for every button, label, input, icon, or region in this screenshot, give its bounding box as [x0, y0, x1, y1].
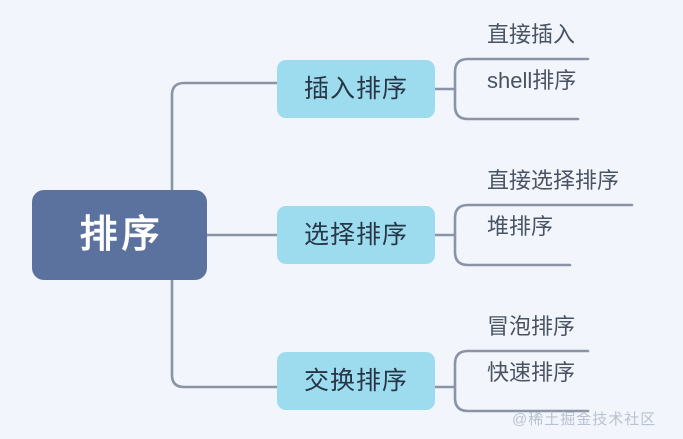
branch-node-selection-sort[interactable]: 选择排序	[277, 206, 435, 264]
leaf-node-label: 直接插入	[481, 24, 575, 52]
leaf-node-direct-insertion[interactable]: 直接插入	[481, 24, 575, 52]
mindmap-canvas: 排序 插入排序 直接插入 shell排序 选择排序 直接选择排序 堆排序 交换排…	[0, 0, 683, 439]
leaf-node-heap-sort[interactable]: 堆排序	[481, 216, 553, 244]
leaf-node-shell-sort[interactable]: shell排序	[481, 70, 576, 98]
watermark: @稀土掘金技术社区	[512, 412, 656, 427]
root-node[interactable]: 排序	[32, 190, 207, 280]
branch-node-label: 插入排序	[304, 77, 408, 102]
leaf-node-label: 堆排序	[481, 216, 553, 244]
branch-node-insertion-sort[interactable]: 插入排序	[277, 60, 435, 118]
branch-node-label: 选择排序	[304, 223, 408, 248]
leaf-node-label: 快速排序	[481, 362, 575, 390]
leaf-node-label: 直接选择排序	[481, 170, 619, 198]
leaf-node-direct-selection-sort[interactable]: 直接选择排序	[481, 170, 619, 198]
leaf-node-label: shell排序	[481, 70, 576, 98]
leaf-node-bubble-sort[interactable]: 冒泡排序	[481, 316, 575, 344]
branch-node-exchange-sort[interactable]: 交换排序	[277, 352, 435, 410]
leaf-node-label: 冒泡排序	[481, 316, 575, 344]
leaf-node-quick-sort[interactable]: 快速排序	[481, 362, 575, 390]
branch-node-label: 交换排序	[304, 369, 408, 394]
root-node-label: 排序	[75, 216, 163, 254]
